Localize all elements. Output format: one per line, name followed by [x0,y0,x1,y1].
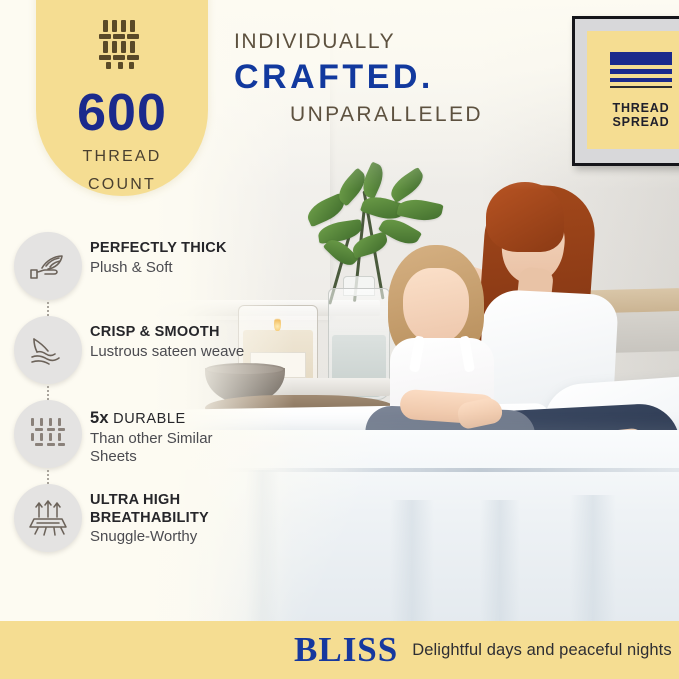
headline-line-1: INDIVIDUALLY [234,30,552,54]
headline-line-3: UNPARALLELED [290,103,552,127]
bottom-banner: BLISS Delightful days and peaceful night… [0,621,679,679]
feature-title-lead: 5x [90,409,109,427]
product-marketing-image: 600 THREAD COUNT INDIVIDUALLY CRAFTED. U… [0,0,679,679]
thread-count-badge: 600 THREAD COUNT [36,0,208,196]
logo-name-line2: SPREAD [613,115,670,129]
feature-title-rest: DURABLE [113,411,186,427]
feature-item-perfectly-thick: PERFECTLY THICK Plush & Soft [14,232,246,300]
thread-count-label-line2: COUNT [36,175,208,195]
photo-child-face [403,268,469,344]
brand-logo-frame: THREAD SPREAD [572,16,679,166]
woven-fabric-icon [36,14,208,77]
feature-title: PERFECTLY THICK [90,240,227,258]
feature-list: PERFECTLY THICK Plush & Soft CR [14,232,246,552]
hand-smoothing-fabric-icon [14,316,82,384]
bliss-tagline: Delightful days and peaceful nights [412,641,671,660]
logo-name-line1: THREAD [613,101,670,115]
thread-count-number: 600 [36,87,208,139]
basket-weave-icon [14,400,82,468]
photo-sheet-drape [480,500,520,628]
feature-title: ULTRA HIGH BREATHABILITY [90,492,246,527]
headline-block: INDIVIDUALLY CRAFTED. UNPARALLELED [232,30,552,127]
photo-sheet-drape [570,495,616,628]
brand-logo: THREAD SPREAD [587,31,679,149]
hand-feather-icon [14,232,82,300]
bliss-word: BLISS [294,630,398,670]
feature-title: CRISP & SMOOTH [90,324,244,342]
feature-subtitle: Than other Similar Sheets [90,430,246,467]
logo-stripes-icon [610,52,672,92]
feature-title: 5x DURABLE [90,408,246,429]
feature-subtitle: Plush & Soft [90,259,227,277]
headline-line-2: CRAFTED. [234,58,552,97]
feature-item-crisp-smooth: CRISP & SMOOTH Lustrous sateen weave [14,316,246,384]
feature-subtitle: Lustrous sateen weave [90,343,244,361]
thread-count-label-line1: THREAD [36,147,208,167]
airflow-breathability-icon [14,484,82,552]
photo-mother-fringe [486,182,564,252]
feature-item-durable: 5x DURABLE Than other Similar Sheets [14,400,246,468]
feature-item-breathability: ULTRA HIGH BREATHABILITY Snuggle-Worthy [14,484,246,552]
feature-subtitle: Snuggle-Worthy [90,528,246,546]
